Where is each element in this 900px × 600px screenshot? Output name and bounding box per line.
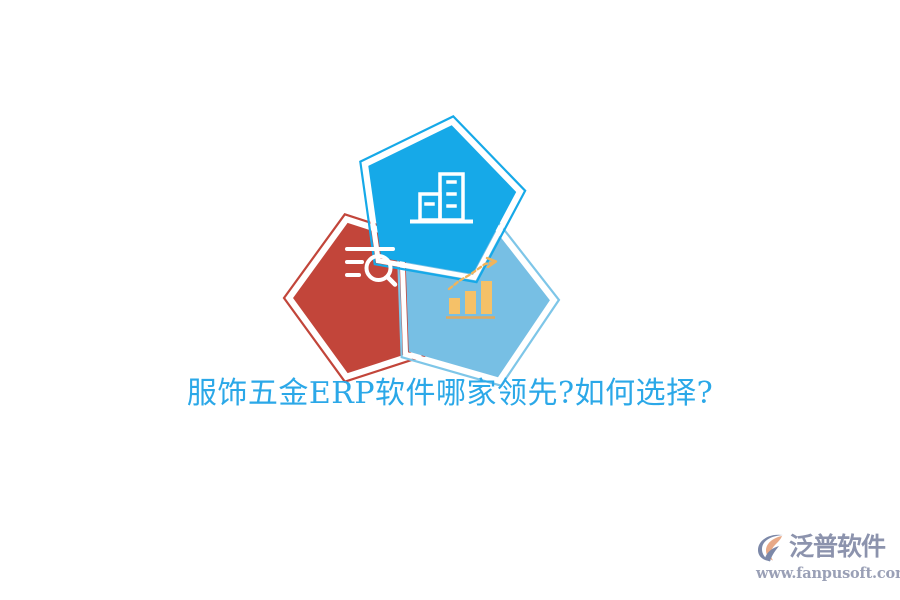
watermark-brand-text: 泛普软件	[789, 532, 885, 562]
page-canvas: 服饰五金ERP软件哪家领先?如何选择? 泛普软件 www.fanpusoft.c…	[0, 0, 900, 600]
watermark: 泛普软件 www.fanpusoft.com	[756, 530, 888, 588]
fanpu-leaf-logo-icon	[756, 532, 786, 562]
watermark-url-text: www.fanpusoft.com	[756, 564, 888, 584]
watermark-brand-row: 泛普软件	[756, 530, 888, 564]
page-title: 服饰五金ERP软件哪家领先?如何选择?	[0, 372, 900, 416]
pentagon-cluster-graphic	[290, 125, 555, 370]
chart-bar-3	[481, 281, 492, 314]
chart-bar-1	[449, 298, 460, 314]
chart-bar-2	[465, 291, 476, 314]
